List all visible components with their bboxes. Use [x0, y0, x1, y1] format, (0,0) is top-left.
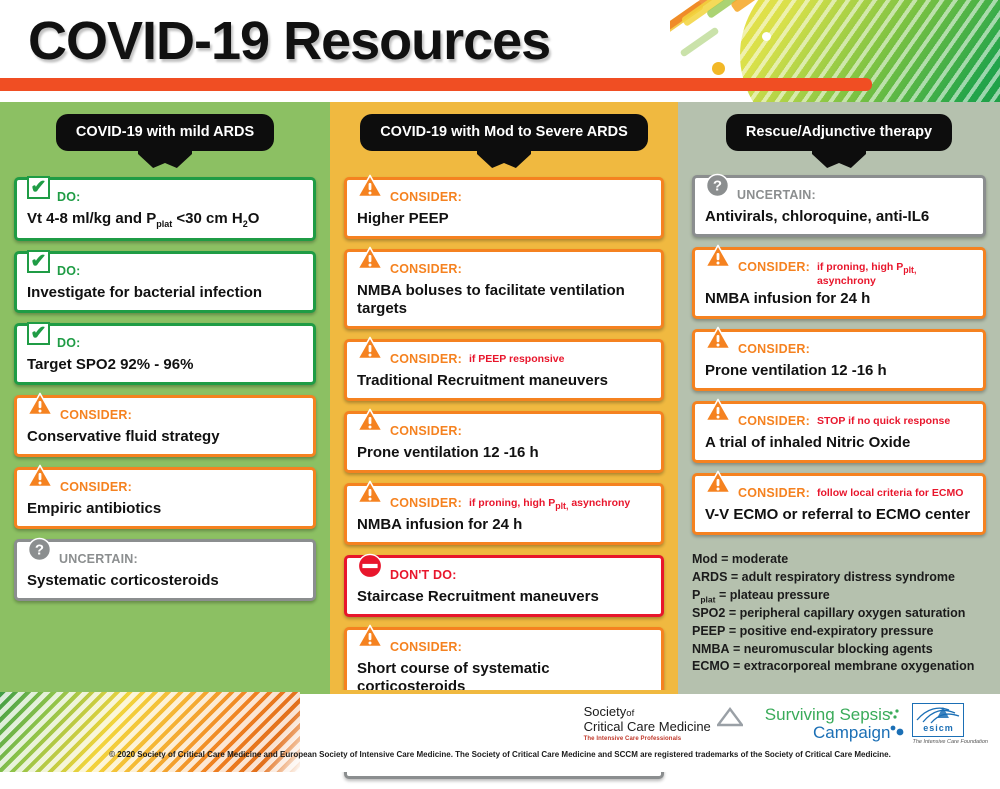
card-text: NMBA infusion for 24 h — [705, 290, 973, 308]
abbreviation-item: Mod = moderate — [692, 551, 1000, 569]
recommendation-card: CONSIDER:Prone ventilation 12 -16 h — [344, 411, 664, 473]
ssc-line2: Campaign — [765, 724, 891, 742]
esicm-name: esicm — [913, 723, 963, 733]
svg-text:?: ? — [713, 178, 722, 195]
card-list-mild-ards: ✔DO:Vt 4-8 ml/kg and Pplat <30 cm H2O✔DO… — [0, 151, 330, 611]
card-qualifier: if proning, high Pplt, asynchrony — [817, 257, 973, 287]
warning-triangle-icon — [27, 392, 53, 416]
card-label: CONSIDER: — [390, 349, 462, 366]
warning-triangle-icon — [357, 480, 383, 504]
card-text: NMBA infusion for 24 h — [357, 516, 651, 534]
card-text: Empiric antibiotics — [27, 500, 303, 518]
card-label: CONSIDER: — [390, 421, 462, 438]
card-label: DO: — [57, 187, 81, 204]
card-text: Prone ventilation 12 -16 h — [705, 362, 973, 380]
card-text: Higher PEEP — [357, 210, 651, 228]
card-label: UNCERTAIN: — [59, 549, 138, 566]
recommendation-card: ?UNCERTAIN:Systematic corticosteroids — [14, 539, 316, 601]
column-header-rescue-adjunctive: Rescue/Adjunctive therapy — [726, 114, 952, 151]
card-label: DON'T DO: — [390, 565, 457, 582]
recommendation-card: ✔DO:Vt 4-8 ml/kg and Pplat <30 cm H2O — [14, 177, 316, 241]
no-entry-icon — [357, 553, 383, 579]
card-text: Vt 4-8 ml/kg and Pplat <30 cm H2O — [27, 210, 303, 230]
recommendation-card: CONSIDER:if proning, high Pplt, asynchro… — [344, 483, 664, 545]
sccm-logo: Societyof Critical Care Medicine The Int… — [584, 705, 743, 743]
card-text: Target SPO2 92% - 96% — [27, 356, 303, 374]
card-header: ✔DO: — [27, 187, 303, 207]
question-circle-icon: ? — [705, 173, 730, 198]
warning-triangle-icon — [705, 470, 731, 494]
page-title: COVID-19 Resources — [28, 10, 550, 72]
card-qualifier: if proning, high Pplt, asynchrony — [469, 493, 630, 511]
card-text: Investigate for bacterial infection — [27, 284, 303, 302]
warning-triangle-icon — [705, 326, 731, 350]
page-header: COVID-19 Resources — [0, 0, 1000, 102]
card-header: CONSIDER: — [27, 477, 303, 497]
card-label: CONSIDER: — [738, 339, 810, 356]
recommendation-card: ✔DO:Target SPO2 92% - 96% — [14, 323, 316, 385]
card-text: A trial of inhaled Nitric Oxide — [705, 434, 973, 452]
card-label: UNCERTAIN: — [737, 185, 816, 202]
card-header: CONSIDER:STOP if no quick response — [705, 411, 973, 431]
card-label: CONSIDER: — [390, 493, 462, 510]
card-label: DO: — [57, 261, 81, 278]
footer-logos: Societyof Critical Care Medicine The Int… — [584, 698, 988, 750]
card-header: CONSIDER:if PEEP responsive — [357, 349, 651, 369]
sccm-tagline: The Intensive Care Professionals — [584, 736, 711, 743]
column-mod-severe-ards: COVID-19 with Mod to Severe ARDS CONSIDE… — [330, 102, 678, 690]
card-text: Prone ventilation 12 -16 h — [357, 444, 651, 462]
warning-triangle-icon — [705, 398, 731, 422]
card-header: CONSIDER:if proning, high Pplt, asynchro… — [357, 493, 651, 513]
card-header: ?UNCERTAIN: — [705, 185, 973, 205]
abbreviation-item: SPO2 = peripheral capillary oxygen satur… — [692, 605, 1000, 623]
card-text: Conservative fluid strategy — [27, 428, 303, 446]
abbreviation-item: NMBA = neuromuscular blocking agents — [692, 641, 1000, 659]
recommendation-card: ✔DO:Investigate for bacterial infection — [14, 251, 316, 313]
warning-triangle-icon — [27, 464, 53, 488]
card-qualifier: if PEEP responsive — [469, 349, 565, 365]
svg-text:?: ? — [35, 541, 44, 558]
card-label: CONSIDER: — [738, 411, 810, 428]
esicm-logo: esicm The Intensive Care Foundation — [912, 703, 988, 745]
recommendation-card: CONSIDER:follow local criteria for ECMOV… — [692, 473, 986, 535]
recommendation-card: DON'T DO:Staircase Recruitment maneuvers — [344, 555, 664, 617]
card-text: V-V ECMO or referral to ECMO center — [705, 506, 973, 524]
abbreviation-item: Pplat = plateau pressure — [692, 587, 1000, 606]
card-header: ✔DO: — [27, 261, 303, 281]
card-header: ?UNCERTAIN: — [27, 549, 303, 569]
card-list-rescue-adjunctive: ?UNCERTAIN:Antivirals, chloroquine, anti… — [678, 151, 1000, 545]
warning-triangle-icon — [705, 244, 731, 268]
column-header-mild-ards: COVID-19 with mild ARDS — [56, 114, 274, 151]
card-qualifier: STOP if no quick response — [817, 411, 950, 427]
card-header: CONSIDER: — [357, 637, 651, 657]
recommendation-card: CONSIDER:Prone ventilation 12 -16 h — [692, 329, 986, 391]
column-mild-ards: COVID-19 with mild ARDS ✔DO:Vt 4-8 ml/kg… — [0, 102, 330, 690]
warning-triangle-icon — [357, 246, 383, 270]
card-header: DON'T DO: — [357, 565, 651, 585]
check-icon: ✔ — [27, 322, 50, 345]
surviving-sepsis-campaign-logo: Surviving Sepsis Campaign — [765, 706, 891, 742]
abbreviation-item: ARDS = adult respiratory distress syndro… — [692, 569, 1000, 587]
card-text: Systematic corticosteroids — [27, 572, 303, 590]
esicm-tagline: The Intensive Care Foundation — [912, 739, 988, 745]
sccm-line2: Critical Care Medicine — [584, 720, 711, 735]
question-circle-icon: ? — [27, 537, 52, 562]
recommendation-card: ?UNCERTAIN:Antivirals, chloroquine, anti… — [692, 175, 986, 237]
recommendation-card: CONSIDER:Empiric antibiotics — [14, 467, 316, 529]
column-header-mod-severe-ards: COVID-19 with Mod to Severe ARDS — [360, 114, 648, 151]
card-header: CONSIDER: — [705, 339, 973, 359]
abbreviation-item: PEEP = positive end-expiratory pressure — [692, 623, 1000, 641]
sccm-line1: Society — [584, 704, 627, 719]
recommendation-card: CONSIDER:Conservative fluid strategy — [14, 395, 316, 457]
footer-decorative-graphic — [0, 692, 300, 772]
card-header: CONSIDER: — [357, 421, 651, 441]
card-text: Antivirals, chloroquine, anti-IL6 — [705, 208, 973, 226]
card-label: CONSIDER: — [390, 259, 462, 276]
recommendation-card: CONSIDER:if PEEP responsiveTraditional R… — [344, 339, 664, 401]
card-label: CONSIDER: — [738, 483, 810, 500]
card-header: CONSIDER:follow local criteria for ECMO — [705, 483, 973, 503]
warning-triangle-icon — [357, 174, 383, 198]
sccm-triangle-icon — [717, 707, 743, 732]
card-header: CONSIDER:if proning, high Pplt, asynchro… — [705, 257, 973, 287]
card-header: CONSIDER: — [357, 259, 651, 279]
recommendation-card: CONSIDER:NMBA boluses to facilitate vent… — [344, 249, 664, 329]
abbreviation-item: ECMO = extracorporeal membrane oxygenati… — [692, 658, 1000, 676]
card-label: CONSIDER: — [60, 477, 132, 494]
ssc-line1: Surviving Sepsis — [765, 706, 891, 724]
card-label: CONSIDER: — [390, 187, 462, 204]
check-icon: ✔ — [27, 250, 50, 273]
warning-triangle-icon — [357, 336, 383, 360]
card-header: ✔DO: — [27, 333, 303, 353]
header-accent-rule — [0, 78, 872, 91]
card-text: Staircase Recruitment maneuvers — [357, 588, 651, 606]
card-qualifier: follow local criteria for ECMO — [817, 483, 963, 499]
card-text: Traditional Recruitment maneuvers — [357, 372, 651, 390]
card-label: CONSIDER: — [738, 257, 810, 274]
recommendation-card: CONSIDER:STOP if no quick responseA tria… — [692, 401, 986, 463]
warning-triangle-icon — [357, 408, 383, 432]
card-header: CONSIDER: — [357, 187, 651, 207]
card-text: NMBA boluses to facilitate ventilation t… — [357, 282, 651, 318]
card-header: CONSIDER: — [27, 405, 303, 425]
page-footer: Societyof Critical Care Medicine The Int… — [0, 690, 1000, 772]
warning-triangle-icon — [357, 624, 383, 648]
card-label: CONSIDER: — [60, 405, 132, 422]
recommendation-card: CONSIDER:if proning, high Pplt, asynchro… — [692, 247, 986, 319]
check-icon: ✔ — [27, 176, 50, 199]
sccm-line1-small: of — [626, 708, 634, 719]
recommendation-card: CONSIDER:Higher PEEP — [344, 177, 664, 239]
card-label: DO: — [57, 333, 81, 350]
copyright-text: © 2020 Society of Critical Care Medicine… — [0, 750, 1000, 759]
abbreviations-legend: Mod = moderateARDS = adult respiratory d… — [678, 545, 1000, 676]
columns-container: COVID-19 with mild ARDS ✔DO:Vt 4-8 ml/kg… — [0, 102, 1000, 690]
card-label: CONSIDER: — [390, 637, 462, 654]
column-rescue-adjunctive: Rescue/Adjunctive therapy ?UNCERTAIN:Ant… — [678, 102, 1000, 690]
